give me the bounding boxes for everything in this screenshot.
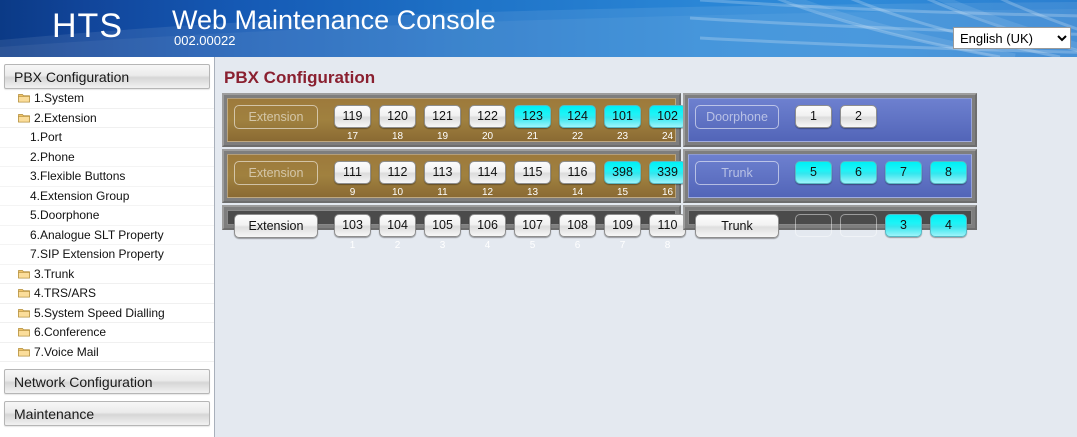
folder-icon <box>18 308 30 318</box>
sidebar-item-1-port[interactable]: 1.Port <box>0 128 214 148</box>
sidebar-item-2-phone[interactable]: 2.Phone <box>0 148 214 168</box>
card-type-button-extension: Extension <box>234 161 318 185</box>
port-button-111[interactable]: 111 <box>334 161 371 184</box>
card-body: Doorphone12 <box>688 98 972 142</box>
app-header: HTS Web Maintenance Console 002.00022 En… <box>0 0 1077 57</box>
port-cell: 6 <box>836 161 881 184</box>
port-cell <box>836 214 881 237</box>
card-button-row: Extension1191712018121191222012321124221… <box>234 105 690 144</box>
page-title: PBX Configuration <box>224 67 1077 89</box>
card-type-button-extension: Extension <box>234 105 318 129</box>
port-cell: 12220 <box>465 105 510 144</box>
port-cell: 10123 <box>600 105 645 144</box>
sidebar-item-3-flexible-buttons[interactable]: 3.Flexible Buttons <box>0 167 214 187</box>
port-button-4[interactable]: 4 <box>930 214 967 237</box>
port-cell: 4 <box>926 214 971 237</box>
card-slot-extension-2: Extension1119112101131111412115131161439… <box>222 149 681 203</box>
port-cell: 11412 <box>465 161 510 200</box>
sidebar-item-7-sip-extension-property[interactable]: 7.SIP Extension Property <box>0 245 214 265</box>
port-button-103[interactable]: 103 <box>334 214 371 237</box>
sidebar-item-label: 4.Extension Group <box>30 189 129 203</box>
sidebar-item-7-voice-mail[interactable]: 7.Voice Mail <box>0 343 214 363</box>
port-cell <box>791 214 836 237</box>
port-number-label: 18 <box>375 130 420 144</box>
port-number-label: 13 <box>510 186 555 200</box>
port-button-123[interactable]: 123 <box>514 105 551 128</box>
card-body: Extension1191712018121191222012321124221… <box>227 98 676 142</box>
port-number-label: 7 <box>600 239 645 253</box>
folder-icon <box>18 113 30 123</box>
sidebar-item-label: 6.Analogue SLT Property <box>30 228 164 242</box>
port-cell: 1042 <box>375 214 420 253</box>
port-number-label: 22 <box>555 130 600 144</box>
port-number-label: 14 <box>555 186 600 200</box>
port-number-label: 17 <box>330 130 375 144</box>
port-number-label: 21 <box>510 130 555 144</box>
port-cell: 12321 <box>510 105 555 144</box>
sidebar-item-label: 7.Voice Mail <box>34 345 99 359</box>
card-slot-extension-1: Extension1191712018121191222012321124221… <box>222 93 681 147</box>
port-button-122[interactable]: 122 <box>469 105 506 128</box>
port-number-label: 3 <box>420 239 465 253</box>
card-button-row: Doorphone12 <box>695 105 881 129</box>
port-button-339[interactable]: 339 <box>649 161 686 184</box>
port-button-124[interactable]: 124 <box>559 105 596 128</box>
port-cell: 11513 <box>510 161 555 200</box>
port-cell: 11210 <box>375 161 420 200</box>
port-button-121[interactable]: 121 <box>424 105 461 128</box>
sidebar-list-pbx: 1.System2.Extension1.Port2.Phone3.Flexib… <box>0 89 214 362</box>
card-body: Extension1119112101131111412115131161439… <box>227 154 676 198</box>
card-button-row: Trunk5678 <box>695 161 971 185</box>
port-button-114[interactable]: 114 <box>469 161 506 184</box>
sidebar-item-4-trs-ars[interactable]: 4.TRS/ARS <box>0 284 214 304</box>
sidebar-item-label: 4.TRS/ARS <box>34 286 96 300</box>
language-select[interactable]: English (UK) <box>953 27 1071 49</box>
card-button-row: Extension1031104210531064107510861097110… <box>234 214 690 253</box>
port-number-label: 8 <box>645 239 690 253</box>
sidebar-section-network-configuration[interactable]: Network Configuration <box>4 369 210 394</box>
card-type-button-extension[interactable]: Extension <box>234 214 318 238</box>
port-number-label: 23 <box>600 130 645 144</box>
card-slot-trunk-2: Trunk5678 <box>683 149 977 203</box>
port-button-3[interactable]: 3 <box>885 214 922 237</box>
port-button-106[interactable]: 106 <box>469 214 506 237</box>
app-version: 002.00022 <box>174 33 235 49</box>
sidebar-item-4-extension-group[interactable]: 4.Extension Group <box>0 187 214 207</box>
port-cell: 1119 <box>330 161 375 200</box>
port-number-label: 19 <box>420 130 465 144</box>
port-button-108[interactable]: 108 <box>559 214 596 237</box>
port-cell: 1075 <box>510 214 555 253</box>
port-cell: 11917 <box>330 105 375 144</box>
port-cell: 3 <box>881 214 926 237</box>
main-content: PBX Configuration Extension1191712018121… <box>216 57 1077 437</box>
sidebar-item-label: 2.Phone <box>30 150 75 164</box>
port-button-8[interactable]: 8 <box>930 161 967 184</box>
card-body: Trunk5678 <box>688 154 972 198</box>
port-button-398[interactable]: 398 <box>604 161 641 184</box>
port-button-116[interactable]: 116 <box>559 161 596 184</box>
sidebar-item-2-extension[interactable]: 2.Extension <box>0 109 214 129</box>
card-body: Extension1031104210531064107510861097110… <box>227 210 676 225</box>
port-number-label: 15 <box>600 186 645 200</box>
port-cell: 12422 <box>555 105 600 144</box>
sidebar-item-3-trunk[interactable]: 3.Trunk <box>0 265 214 285</box>
port-button-2[interactable]: 2 <box>840 105 877 128</box>
port-cell: 12119 <box>420 105 465 144</box>
sidebar-item-label: 2.Extension <box>34 111 97 125</box>
sidebar-item-label: 1.Port <box>30 130 62 144</box>
port-button-112[interactable]: 112 <box>379 161 416 184</box>
folder-icon <box>18 269 30 279</box>
sidebar-item-label: 5.System Speed Dialling <box>34 306 165 320</box>
card-type-button-trunk: Trunk <box>695 161 779 185</box>
card-type-button-doorphone: Doorphone <box>695 105 779 129</box>
port-button-119[interactable]: 119 <box>334 105 371 128</box>
port-number-label: 20 <box>465 130 510 144</box>
port-button-5[interactable]: 5 <box>795 161 832 184</box>
port-button-115[interactable]: 115 <box>514 161 551 184</box>
sidebar-item-label: 3.Flexible Buttons <box>30 169 125 183</box>
port-button-113[interactable]: 113 <box>424 161 461 184</box>
port-number-label: 4 <box>465 239 510 253</box>
port-cell: 1064 <box>465 214 510 253</box>
card-button-row: Extension1119112101131111412115131161439… <box>234 161 690 200</box>
port-button-110[interactable]: 110 <box>649 214 686 237</box>
sidebar-item-label: 6.Conference <box>34 325 106 339</box>
sidebar-section-maintenance[interactable]: Maintenance <box>4 401 210 426</box>
port-cell: 39815 <box>600 161 645 200</box>
brand-logo: HTS <box>52 4 123 48</box>
port-cell: 1097 <box>600 214 645 253</box>
port-number-label: 9 <box>330 186 375 200</box>
sidebar-item-label: 1.System <box>34 91 84 105</box>
card-body: Trunk34 <box>688 210 972 225</box>
sidebar: PBX Configuration 1.System2.Extension1.P… <box>0 57 215 437</box>
port-button-101[interactable]: 101 <box>604 105 641 128</box>
port-cell: 1053 <box>420 214 465 253</box>
port-button-empty <box>795 214 832 237</box>
sidebar-item-label: 3.Trunk <box>34 267 74 281</box>
sidebar-section-pbx-configuration[interactable]: PBX Configuration <box>4 64 210 89</box>
pbx-port-diagram: Extension1191712018121191222012321124221… <box>222 93 977 230</box>
card-slot-extension-3: Extension1031104210531064107510861097110… <box>222 205 681 230</box>
port-cell: 2 <box>836 105 881 128</box>
port-button-107[interactable]: 107 <box>514 214 551 237</box>
card-slot-doorphone-1: Doorphone12 <box>683 93 977 147</box>
card-button-row: Trunk34 <box>695 214 971 238</box>
page-body: PBX Configuration 1.System2.Extension1.P… <box>0 57 1077 437</box>
sidebar-item-label: 5.Doorphone <box>30 208 99 222</box>
port-cell: 12018 <box>375 105 420 144</box>
port-number-label: 5 <box>510 239 555 253</box>
folder-icon <box>18 93 30 103</box>
port-button-120[interactable]: 120 <box>379 105 416 128</box>
folder-icon <box>18 347 30 357</box>
port-cell: 8 <box>926 161 971 184</box>
port-button-1[interactable]: 1 <box>795 105 832 128</box>
sidebar-item-6-conference[interactable]: 6.Conference <box>0 323 214 343</box>
port-cell: 11614 <box>555 161 600 200</box>
header-decoration <box>0 0 1077 57</box>
sidebar-item-label: 7.SIP Extension Property <box>30 247 164 261</box>
port-button-empty <box>840 214 877 237</box>
port-cell: 1 <box>791 105 836 128</box>
port-cell: 1031 <box>330 214 375 253</box>
port-number-label: 12 <box>465 186 510 200</box>
port-cell: 7 <box>881 161 926 184</box>
folder-icon <box>18 288 30 298</box>
sidebar-item-6-analogue-slt-property[interactable]: 6.Analogue SLT Property <box>0 226 214 246</box>
folder-icon <box>18 327 30 337</box>
sidebar-item-5-system-speed-dialling[interactable]: 5.System Speed Dialling <box>0 304 214 324</box>
port-cell: 1086 <box>555 214 600 253</box>
port-button-7[interactable]: 7 <box>885 161 922 184</box>
card-slot-trunk-3: Trunk34 <box>683 205 977 230</box>
port-number-label: 11 <box>420 186 465 200</box>
port-button-104[interactable]: 104 <box>379 214 416 237</box>
port-cell: 5 <box>791 161 836 184</box>
port-cell: 11311 <box>420 161 465 200</box>
sidebar-item-5-doorphone[interactable]: 5.Doorphone <box>0 206 214 226</box>
port-button-102[interactable]: 102 <box>649 105 686 128</box>
port-number-label: 10 <box>375 186 420 200</box>
port-button-109[interactable]: 109 <box>604 214 641 237</box>
port-button-105[interactable]: 105 <box>424 214 461 237</box>
port-number-label: 6 <box>555 239 600 253</box>
port-button-6[interactable]: 6 <box>840 161 877 184</box>
card-type-button-trunk[interactable]: Trunk <box>695 214 779 238</box>
port-number-label: 2 <box>375 239 420 253</box>
port-number-label: 1 <box>330 239 375 253</box>
sidebar-item-1-system[interactable]: 1.System <box>0 89 214 109</box>
